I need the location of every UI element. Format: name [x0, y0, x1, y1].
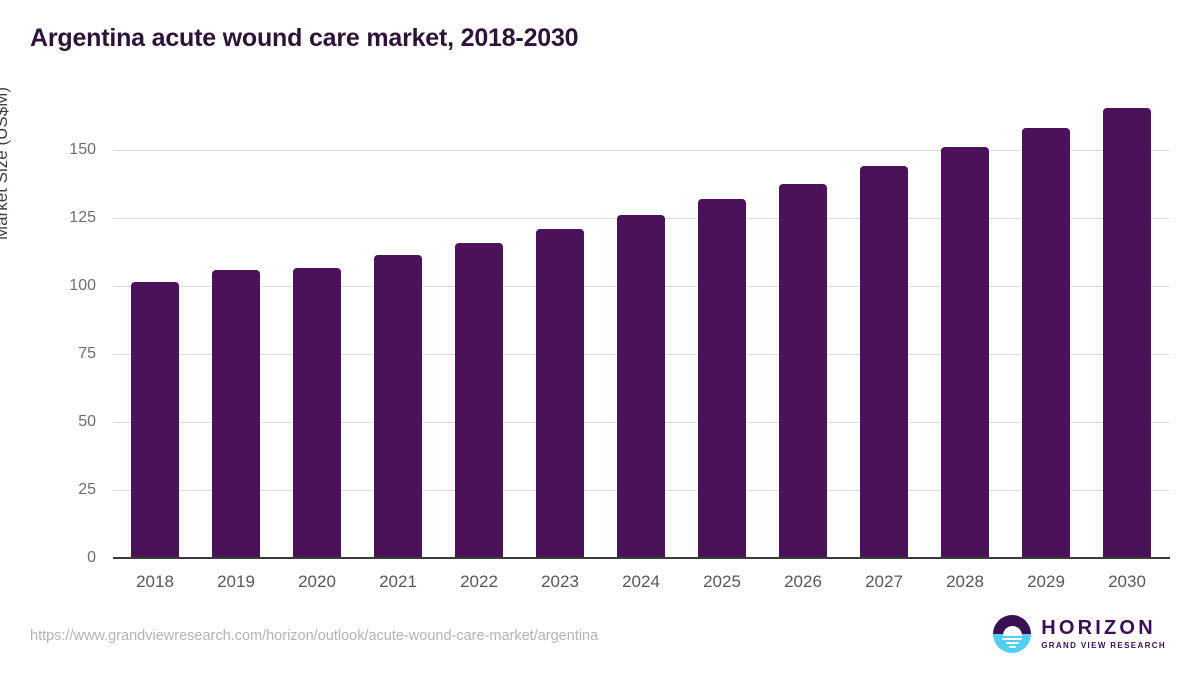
logo-dome-shape [1003, 626, 1022, 636]
x-tick-label: 2024 [601, 572, 681, 592]
brand-logo: HORIZON GRAND VIEW RESEARCH [993, 613, 1166, 655]
bar[interactable] [293, 268, 341, 558]
y-tick-label: 150 [36, 141, 96, 159]
x-tick-label: 2027 [844, 572, 924, 592]
bar[interactable] [941, 147, 989, 558]
logo-ray-icon [1009, 646, 1016, 648]
bar[interactable] [374, 255, 422, 558]
y-axis-title: Market Size (US$M) [0, 87, 12, 240]
bar[interactable] [698, 199, 746, 558]
x-tick-label: 2026 [763, 572, 843, 592]
x-axis-line [113, 557, 1170, 559]
x-tick-label: 2023 [520, 572, 600, 592]
plot-area [113, 90, 1170, 558]
y-tick-label: 75 [36, 345, 96, 363]
logo-wordmark: HORIZON [1041, 618, 1166, 639]
bar[interactable] [617, 215, 665, 558]
source-url[interactable]: https://www.grandviewresearch.com/horizo… [30, 628, 598, 644]
y-tick-label: 125 [36, 209, 96, 227]
bar[interactable] [455, 243, 503, 558]
horizon-sun-icon [993, 615, 1031, 653]
x-tick-label: 2029 [1006, 572, 1086, 592]
x-tick-label: 2021 [358, 572, 438, 592]
chart-card: Argentina acute wound care market, 2018-… [0, 0, 1200, 675]
page-title: Argentina acute wound care market, 2018-… [30, 24, 578, 53]
bar[interactable] [779, 184, 827, 558]
logo-text: HORIZON GRAND VIEW RESEARCH [1041, 618, 1166, 651]
logo-tagline: GRAND VIEW RESEARCH [1041, 641, 1166, 651]
x-tick-label: 2018 [115, 572, 195, 592]
bar[interactable] [212, 270, 260, 558]
x-tick-label: 2025 [682, 572, 762, 592]
bar[interactable] [131, 282, 179, 558]
x-tick-label: 2019 [196, 572, 276, 592]
x-tick-label: 2022 [439, 572, 519, 592]
bar[interactable] [1103, 108, 1151, 558]
bar[interactable] [536, 229, 584, 558]
y-tick-label: 25 [36, 481, 96, 499]
bar[interactable] [860, 166, 908, 558]
y-tick-label: 50 [36, 413, 96, 431]
y-tick-label: 0 [36, 549, 96, 567]
bar[interactable] [1022, 128, 1070, 558]
logo-ray-icon [1006, 642, 1019, 644]
logo-ray-icon [1002, 638, 1022, 640]
y-tick-label: 100 [36, 277, 96, 295]
x-tick-label: 2030 [1087, 572, 1167, 592]
gridline [113, 150, 1170, 151]
x-tick-label: 2020 [277, 572, 357, 592]
x-tick-label: 2028 [925, 572, 1005, 592]
